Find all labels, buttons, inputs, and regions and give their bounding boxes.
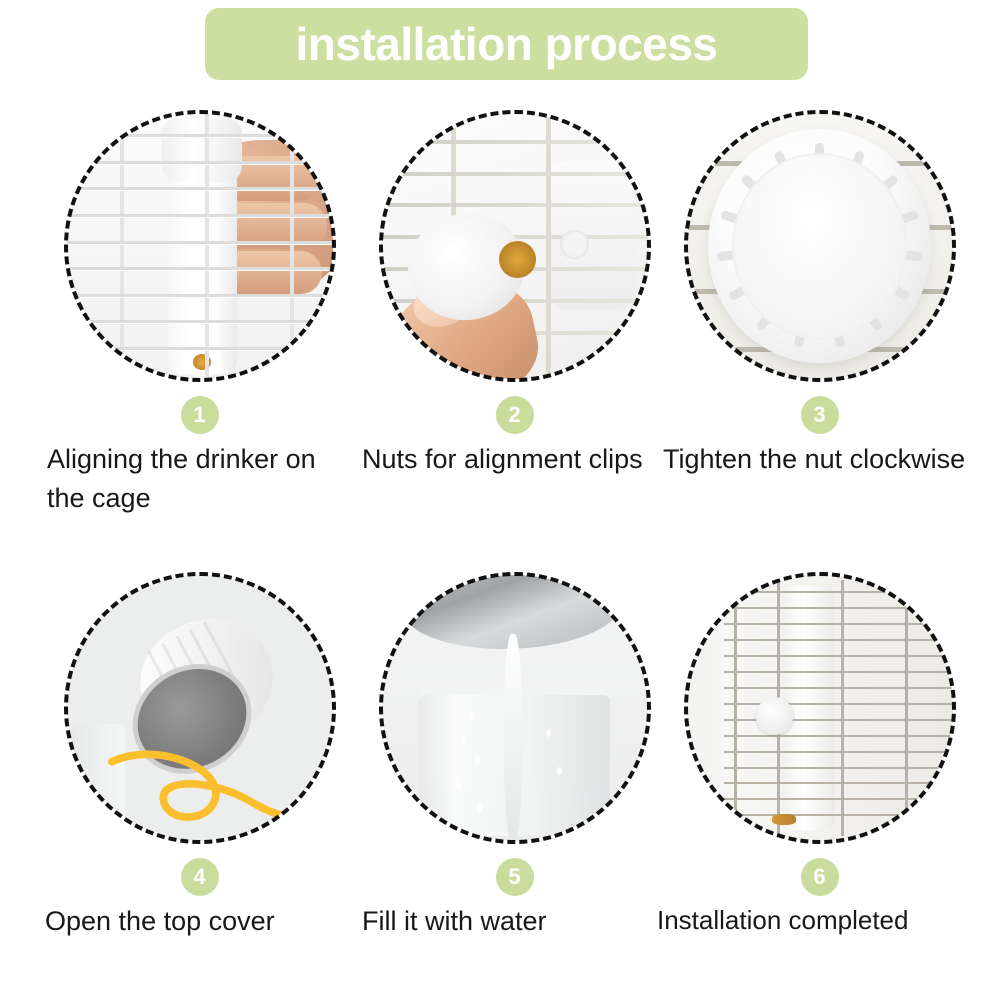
photo-clip-1 [67, 113, 333, 379]
step-caption-4: Open the top cover [33, 902, 366, 941]
header-banner: installation process [205, 8, 808, 80]
step-badge-3: 3 [801, 396, 839, 434]
step-caption-3: Tighten the nut clockwise [653, 440, 986, 479]
step-photo-2 [379, 110, 651, 382]
step-caption-6: Installation completed [653, 902, 986, 940]
step-number-2: 2 [508, 404, 520, 426]
step-card-1: 1 Aligning the drinker on the cage [33, 110, 366, 530]
step-card-4: 4 Open the top cover [33, 572, 366, 992]
step-caption-1: Aligning the drinker on the cage [33, 440, 366, 518]
photo-clip-3 [687, 113, 953, 379]
scene-fill-with-water [382, 575, 648, 841]
scene-tighten-nut [687, 113, 953, 379]
step-caption-5: Fill it with water [348, 902, 681, 941]
step-caption-2: Nuts for alignment clips [348, 440, 681, 479]
step-badge-5: 5 [496, 858, 534, 896]
step-card-6: 6 Installation completed [653, 572, 986, 992]
step-number-6: 6 [813, 866, 825, 888]
step-card-2: 2 Nuts for alignment clips [348, 110, 681, 530]
infographic-page: installation process [0, 0, 1000, 1000]
scene-open-top-cover [67, 575, 333, 841]
step-badge-4: 4 [181, 858, 219, 896]
step-badge-6: 6 [801, 858, 839, 896]
step-badge-1: 1 [181, 396, 219, 434]
step-photo-3 [684, 110, 956, 382]
page-title: installation process [295, 21, 717, 67]
step-photo-4 [64, 572, 336, 844]
steps-row-2: 4 Open the top cover [0, 572, 1000, 992]
scene-hand-drinker-cage [67, 113, 333, 379]
step-card-3: 3 Tighten the nut clockwise [653, 110, 986, 530]
step-photo-6 [684, 572, 956, 844]
steps-row-1: 1 Aligning the drinker on the cage [0, 110, 1000, 530]
photo-clip-5 [382, 575, 648, 841]
step-number-5: 5 [508, 866, 520, 888]
photo-clip-6 [687, 575, 953, 841]
step-number-4: 4 [193, 866, 205, 888]
photo-clip-4 [67, 575, 333, 841]
step-card-5: 5 Fill it with water [348, 572, 681, 992]
step-number-3: 3 [813, 404, 825, 426]
step-photo-5 [379, 572, 651, 844]
unscrew-arrow-icon [104, 735, 304, 831]
step-photo-1 [64, 110, 336, 382]
scene-installation-completed [687, 575, 953, 841]
steps-grid: 1 Aligning the drinker on the cage [0, 110, 1000, 980]
step-badge-2: 2 [496, 396, 534, 434]
scene-nut-alignment-clip [382, 113, 648, 379]
photo-clip-2 [382, 113, 648, 379]
step-number-1: 1 [193, 404, 205, 426]
